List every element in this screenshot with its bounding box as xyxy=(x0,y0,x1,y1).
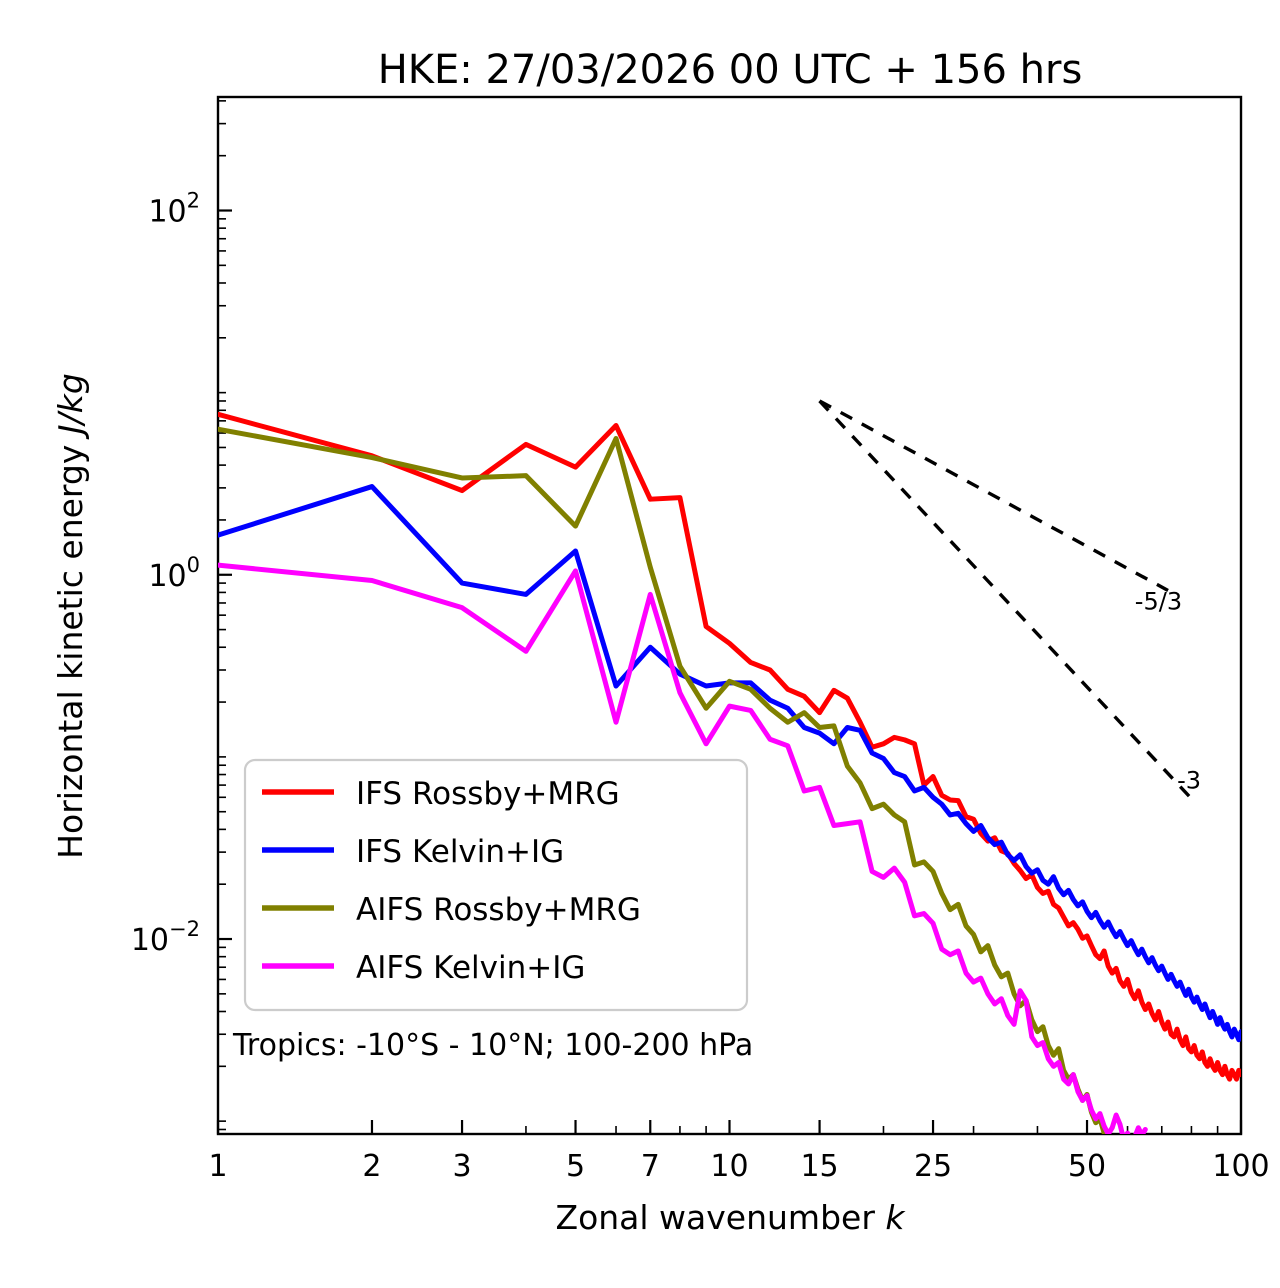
x-tick-label: 3 xyxy=(453,1149,472,1184)
legend-label-aifs-rossby-mrg: AIFS Rossby+MRG xyxy=(356,892,641,928)
y-tick-mantissa: 10 xyxy=(131,923,169,958)
y-axis-title: Horizontal kinetic energy J/kg xyxy=(51,373,90,859)
x-tick-label: 7 xyxy=(641,1149,660,1184)
y-tick-exponent: 2 xyxy=(187,189,200,213)
slope-label: -3 xyxy=(1177,767,1201,795)
x-axis-title-main: Zonal wavenumber xyxy=(555,1198,885,1237)
x-axis-title: Zonal wavenumber k xyxy=(555,1198,906,1237)
y-tick-mantissa: 10 xyxy=(148,195,186,230)
y-tick-mantissa: 10 xyxy=(148,559,186,594)
y-tick-exponent: 0 xyxy=(187,553,200,577)
x-axis-title-text: Zonal wavenumber k xyxy=(555,1198,906,1237)
legend-label-ifs-rossby-mrg: IFS Rossby+MRG xyxy=(356,776,620,812)
x-tick-label: 15 xyxy=(800,1149,838,1184)
legend-label-ifs-kelvin-ig: IFS Kelvin+IG xyxy=(356,834,564,870)
hke-spectrum-chart: HKE: 27/03/2026 00 UTC + 156 hrs Horizon… xyxy=(0,0,1280,1288)
chart-title: HKE: 27/03/2026 00 UTC + 156 hrs xyxy=(378,47,1083,93)
figure-root: HKE: 27/03/2026 00 UTC + 156 hrs Horizon… xyxy=(0,0,1280,1288)
x-tick-label: 2 xyxy=(362,1149,381,1184)
x-axis-title-symbol: k xyxy=(885,1198,906,1237)
y-axis-title-units: J/kg xyxy=(51,373,90,440)
y-axis-title-main: Horizontal kinetic energy xyxy=(51,434,90,859)
x-tick-label: 100 xyxy=(1212,1149,1269,1184)
x-tick-label: 25 xyxy=(914,1149,952,1184)
x-tick-label: 5 xyxy=(566,1149,585,1184)
x-tick-label: 1 xyxy=(208,1149,227,1184)
legend-label-aifs-kelvin-ig: AIFS Kelvin+IG xyxy=(356,950,585,986)
y-axis-title-text: Horizontal kinetic energy J/kg xyxy=(51,373,90,859)
y-tick-exponent: −2 xyxy=(169,917,200,941)
x-tick-label: 50 xyxy=(1068,1149,1106,1184)
chart-legend[interactable]: IFS Rossby+MRGIFS Kelvin+IGAIFS Rossby+M… xyxy=(245,760,747,1010)
slope-label: -5/3 xyxy=(1135,588,1182,616)
x-tick-label: 10 xyxy=(710,1149,748,1184)
region-annotation: Tropics: -10°S - 10°N; 100-200 hPa xyxy=(232,1028,753,1063)
